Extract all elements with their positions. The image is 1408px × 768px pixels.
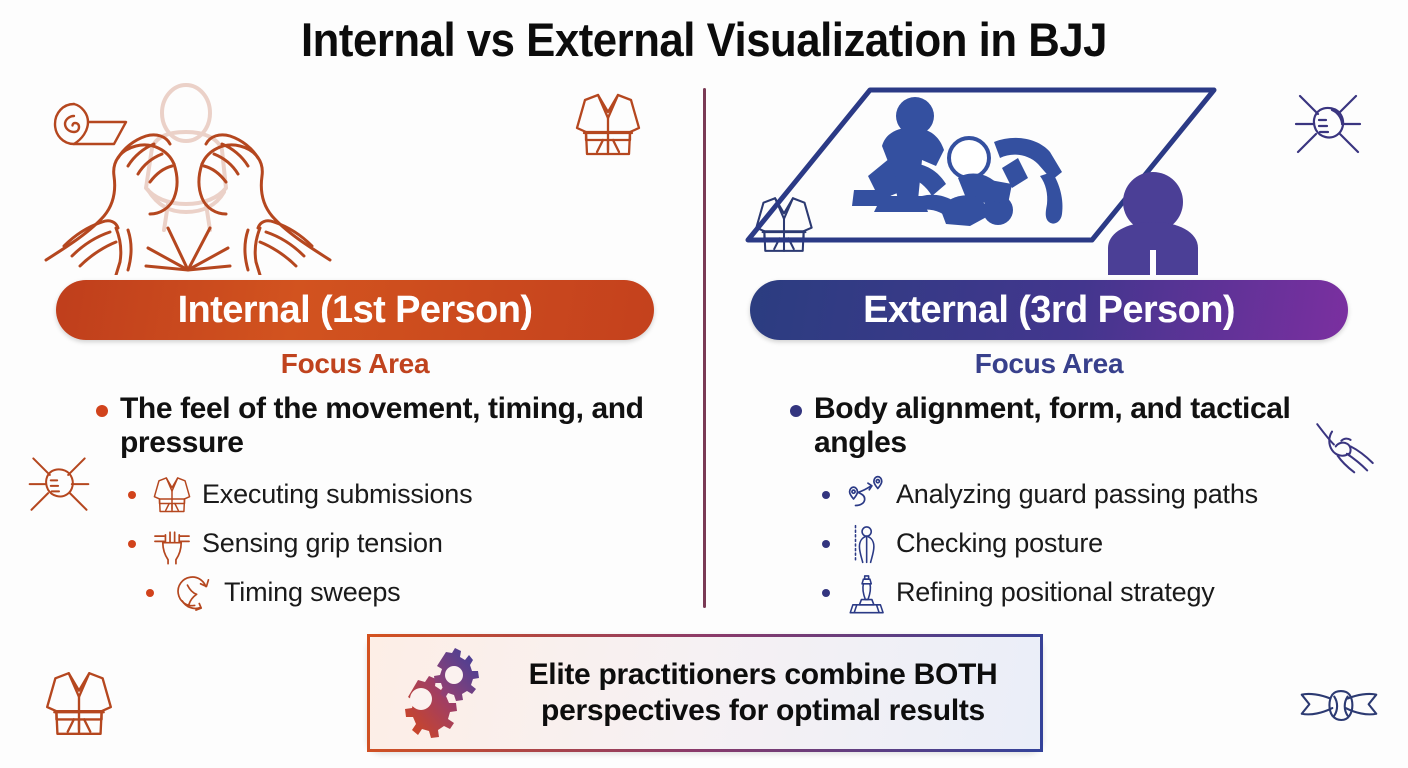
main-bullet-external-text: Body alignment, form, and tactical angle…	[814, 392, 1350, 460]
main-bullet-internal-text: The feel of the movement, timing, and pr…	[120, 392, 656, 460]
list-item: Analyzing guard passing paths	[822, 470, 1362, 519]
callout-box: Elite practitioners combine BOTH perspec…	[367, 634, 1043, 752]
center-divider	[703, 88, 706, 608]
gi-jacket-icon	[150, 473, 194, 517]
bullet-dot-wrap	[128, 571, 172, 615]
bullet-dot-icon	[822, 589, 830, 597]
route-pins-icon	[844, 473, 888, 517]
posture-person-icon	[844, 522, 888, 566]
two-gears-icon	[388, 647, 480, 739]
list-item-label: Checking posture	[896, 528, 1103, 559]
slide-root: Internal vs External Visualization in BJ…	[0, 0, 1408, 768]
column-internal: Internal (1st Person) Focus Area The fee…	[28, 80, 688, 625]
bullet-dot-icon	[128, 540, 136, 548]
focus-area-label-external: Focus Area	[750, 348, 1348, 380]
list-item: Checking posture	[822, 519, 1362, 568]
bullet-dot-icon	[146, 589, 154, 597]
main-bullet-internal: The feel of the movement, timing, and pr…	[96, 392, 656, 460]
focus-area-label-internal: Focus Area	[56, 348, 654, 380]
banner-internal-label: Internal (1st Person)	[178, 289, 533, 332]
list-item-label: Executing submissions	[202, 479, 472, 510]
third-person-grappling-diamond-illustration	[722, 80, 1382, 275]
callout-line-1: Elite practitioners combine BOTH	[529, 658, 998, 691]
list-item: Refining positional strategy	[822, 568, 1362, 617]
page-title: Internal vs External Visualization in BJ…	[49, 12, 1358, 67]
bullet-dot-icon	[96, 405, 108, 417]
bullet-dot-icon	[822, 540, 830, 548]
sub-list-internal: Executing submissions Sensing grip tensi…	[128, 470, 668, 617]
banner-external: External (3rd Person)	[750, 280, 1348, 340]
list-item: Timing sweeps	[128, 568, 668, 617]
callout-text: Elite practitioners combine BOTH perspec…	[486, 657, 1040, 729]
tied-belt-icon	[1296, 680, 1382, 743]
list-item: Executing submissions	[128, 470, 668, 519]
banner-internal: Internal (1st Person)	[56, 280, 654, 340]
list-item-label: Refining positional strategy	[896, 577, 1215, 608]
chess-piece-icon	[844, 571, 888, 615]
list-item-label: Timing sweeps	[224, 577, 400, 608]
gi-jacket-icon	[42, 666, 116, 747]
banner-external-label: External (3rd Person)	[863, 289, 1235, 332]
grip-hand-icon	[150, 522, 194, 566]
rotation-sweep-icon	[172, 571, 216, 615]
bullet-dot-icon	[128, 491, 136, 499]
bullet-dot-icon	[822, 491, 830, 499]
callout-line-2: perspectives for optimal results	[541, 694, 985, 727]
first-person-hands-illustration	[28, 80, 688, 275]
sub-list-external: Analyzing guard passing paths Checking p…	[822, 470, 1362, 617]
column-external: External (3rd Person) Focus Area Body al…	[722, 80, 1382, 625]
list-item-label: Analyzing guard passing paths	[896, 479, 1258, 510]
bullet-dot-icon	[790, 405, 802, 417]
list-item-label: Sensing grip tension	[202, 528, 443, 559]
list-item: Sensing grip tension	[128, 519, 668, 568]
main-bullet-external: Body alignment, form, and tactical angle…	[790, 392, 1350, 460]
